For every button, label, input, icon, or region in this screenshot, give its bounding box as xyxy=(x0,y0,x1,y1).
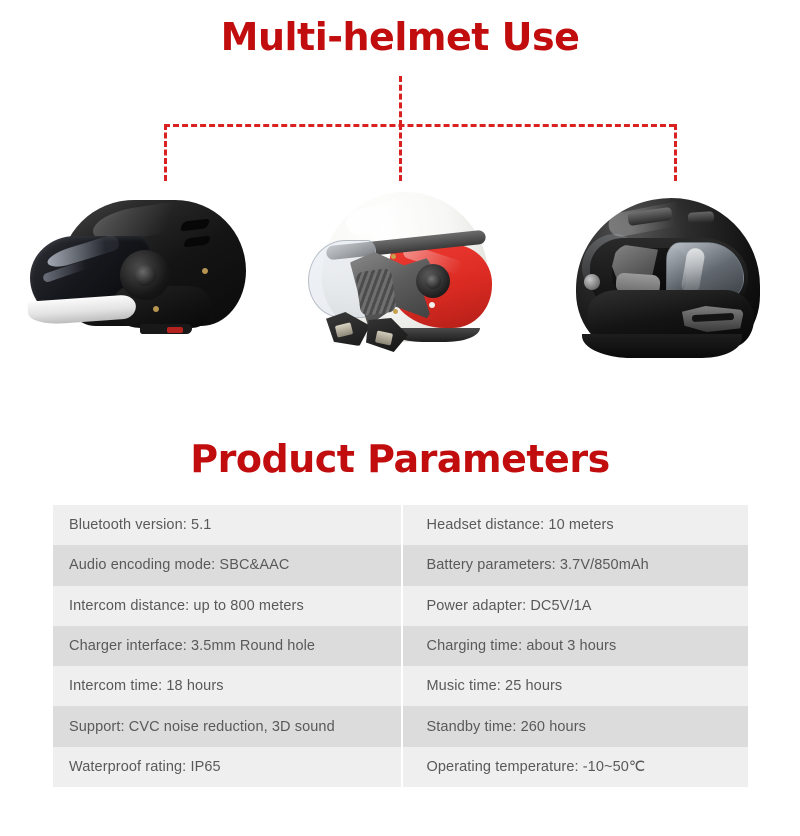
helmet2-harness-pad xyxy=(355,268,397,317)
param-cell-right: Power adapter: DC5V/1A xyxy=(401,586,749,626)
param-cell-left: Waterproof rating: IP65 xyxy=(53,747,401,787)
param-cell-right: Standby time: 260 hours xyxy=(401,706,749,746)
table-row: Intercom time: 18 hoursMusic time: 25 ho… xyxy=(53,666,748,706)
table-row: Charger interface: 3.5mm Round holeCharg… xyxy=(53,626,748,666)
param-cell-left: Charger interface: 3.5mm Round hole xyxy=(53,626,401,666)
helmet-image-white-red-open-face xyxy=(292,182,518,382)
param-cell-left: Intercom time: 18 hours xyxy=(53,666,401,706)
helmet1-chin-red-accent xyxy=(167,327,183,333)
page-title-multi-helmet-use: Multi-helmet Use xyxy=(0,18,800,56)
helmet-image-black-half-face xyxy=(22,182,284,382)
dashed-drop-left-helmet xyxy=(164,124,167,181)
helmet1-screw-front xyxy=(153,306,159,312)
param-cell-left: Support: CVC noise reduction, 3D sound xyxy=(53,706,401,746)
helmet3-side-vent xyxy=(688,211,715,224)
helmet1-screw-rear xyxy=(202,268,208,274)
table-row: Intercom distance: up to 800 metersPower… xyxy=(53,586,748,626)
helmet2-screw-lower xyxy=(393,309,398,314)
param-cell-right: Operating temperature: -10~50℃ xyxy=(401,747,749,787)
table-row: Support: CVC noise reduction, 3D soundSt… xyxy=(53,706,748,746)
param-cell-right: Charging time: about 3 hours xyxy=(401,626,749,666)
table-row: Bluetooth version: 5.1Headset distance: … xyxy=(53,505,748,545)
page-title-product-parameters: Product Parameters xyxy=(0,440,800,478)
helmet3-base-rim xyxy=(582,334,742,358)
param-cell-right: Battery parameters: 3.7V/850mAh xyxy=(401,545,749,585)
dashed-drop-right-helmet xyxy=(674,124,677,181)
helmet1-visor-pivot-core xyxy=(134,264,156,286)
param-cell-right: Headset distance: 10 meters xyxy=(401,505,749,545)
product-parameters-table: Bluetooth version: 5.1Headset distance: … xyxy=(53,505,748,787)
helmet-image-black-full-face xyxy=(556,182,788,382)
helmet3-visor-button xyxy=(584,274,600,290)
table-row: Audio encoding mode: SBC&AACBattery para… xyxy=(53,545,748,585)
helmet-image-row xyxy=(0,182,800,382)
helmet2-band-dot xyxy=(429,302,435,308)
dashed-horizontal-rail xyxy=(164,124,675,127)
param-cell-right: Music time: 25 hours xyxy=(401,666,749,706)
dashed-stem-top xyxy=(399,76,402,126)
helmet2-side-dial-core xyxy=(425,273,441,289)
dashed-drop-center-helmet xyxy=(399,124,402,181)
param-cell-left: Bluetooth version: 5.1 xyxy=(53,505,401,545)
table-row: Waterproof rating: IP65Operating tempera… xyxy=(53,747,748,787)
param-cell-left: Intercom distance: up to 800 meters xyxy=(53,586,401,626)
param-cell-left: Audio encoding mode: SBC&AAC xyxy=(53,545,401,585)
helmet2-screw-upper xyxy=(391,254,396,259)
helmet1-chin-strap xyxy=(140,324,192,334)
